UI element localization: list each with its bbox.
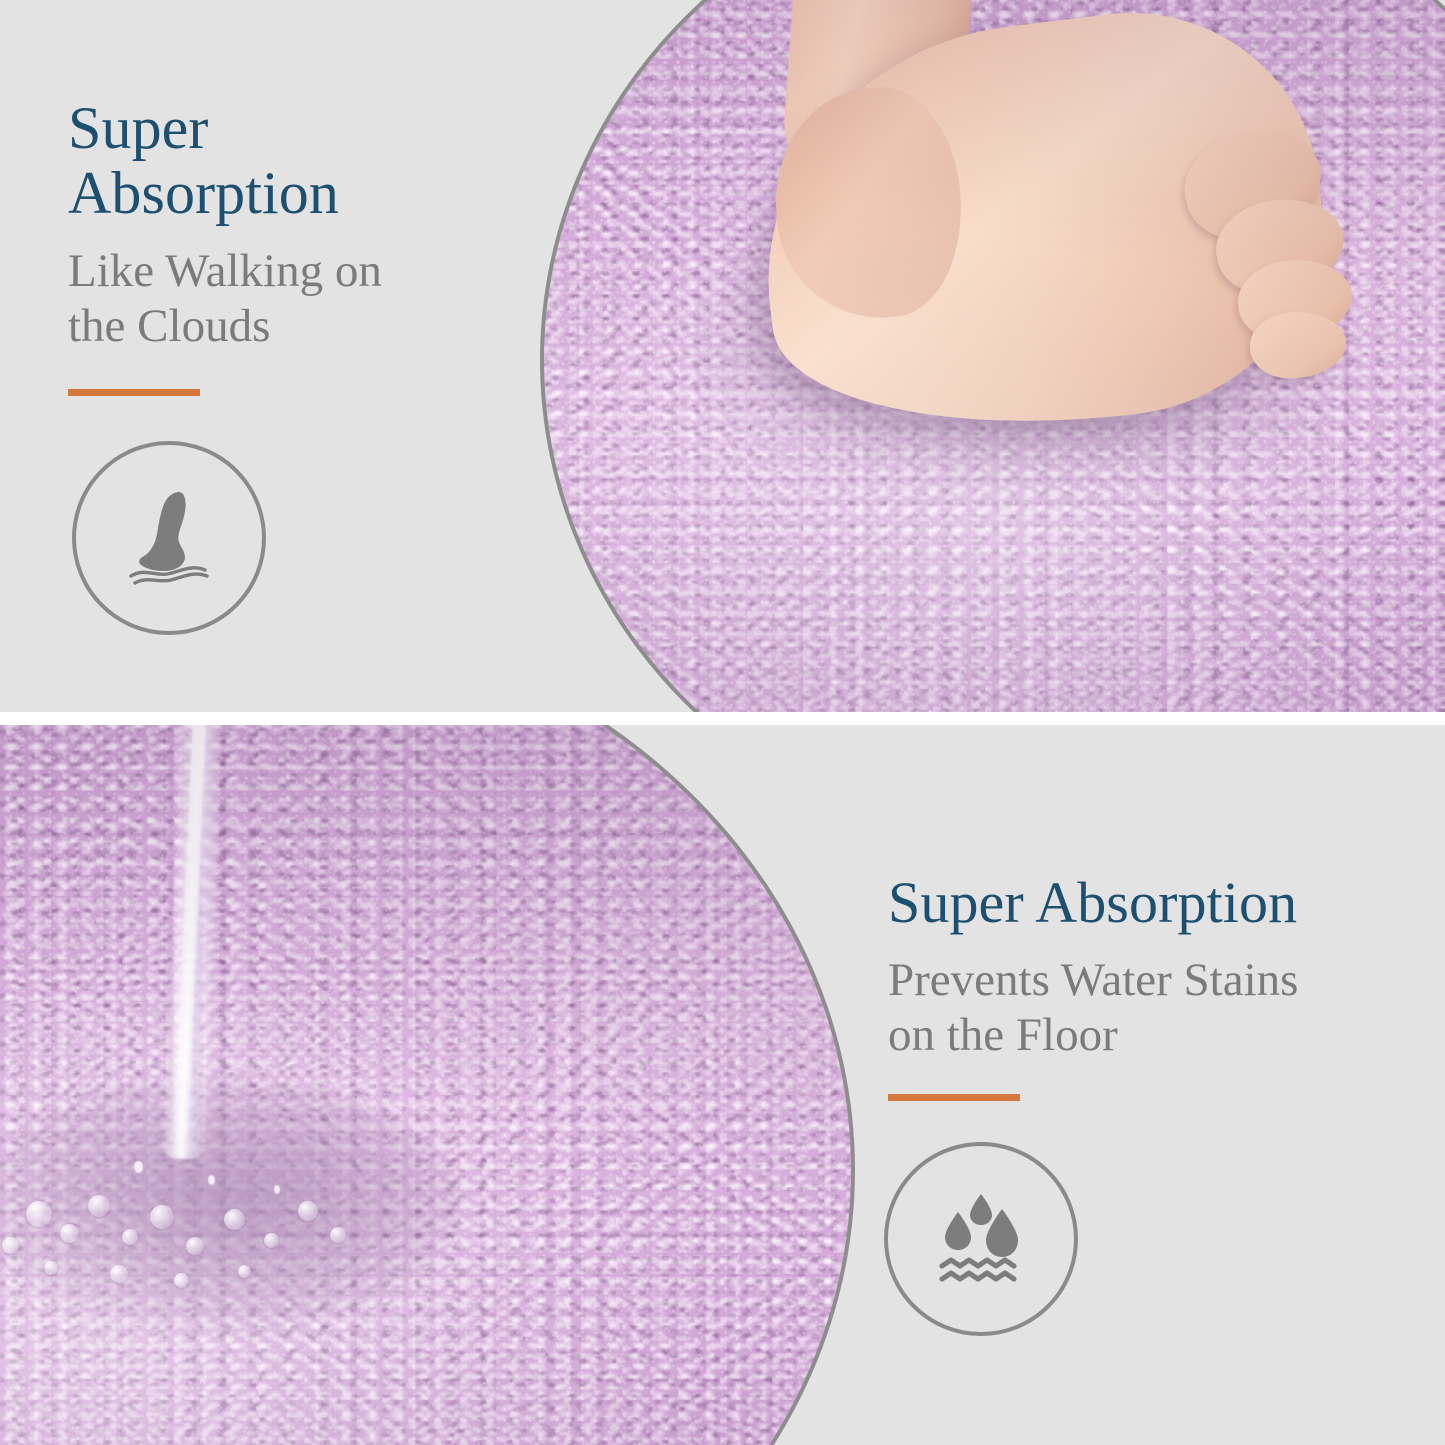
bottom-subline: Prevents Water Stains on the Floor [888, 953, 1408, 1064]
bottom-panel: Super Absorption Prevents Water Stains o… [0, 725, 1445, 1445]
water-bubble [2, 1237, 19, 1254]
top-headline: Super Absorption [68, 96, 488, 226]
water-bubble [298, 1201, 318, 1221]
water-bubble [110, 1265, 128, 1283]
bottom-text-block: Super Absorption Prevents Water Stains o… [888, 872, 1408, 1101]
bottom-headline: Super Absorption [888, 872, 1408, 935]
top-accent-bar [68, 389, 200, 396]
water-bubble [122, 1229, 138, 1245]
water-droplet [134, 1161, 143, 1173]
water-droplets-waves-icon [920, 1178, 1042, 1300]
water-bubble [224, 1209, 245, 1230]
water-bubble [44, 1261, 58, 1275]
water-droplet [274, 1185, 280, 1194]
water-bubble [186, 1237, 204, 1255]
top-text-block: Super Absorption Like Walking on the Clo… [68, 96, 488, 396]
bottom-subline-line-1: Prevents Water Stains [888, 953, 1408, 1008]
top-panel: Super Absorption Like Walking on the Clo… [0, 0, 1445, 712]
panel-divider [0, 712, 1445, 725]
foot-on-rug-photo [540, 0, 1445, 712]
water-bubble [174, 1273, 189, 1288]
rug-texture [0, 725, 851, 1445]
water-on-rug-photo [0, 725, 855, 1445]
bottom-subline-line-2: on the Floor [888, 1008, 1408, 1063]
water-droplets-icon-badge [884, 1142, 1078, 1336]
bottom-accent-bar [888, 1094, 1020, 1101]
top-headline-line-1: Super [68, 96, 488, 161]
foot-comfort-icon [109, 478, 229, 598]
product-feature-image: Super Absorption Like Walking on the Clo… [0, 0, 1445, 1445]
water-droplet [208, 1175, 215, 1185]
water-bubble [330, 1227, 346, 1243]
top-subline-line-1: Like Walking on [68, 244, 488, 299]
water-bubble [264, 1233, 279, 1248]
foot-comfort-icon-badge [72, 441, 266, 635]
bottom-headline-line-1: Super Absorption [888, 872, 1408, 935]
rug-fiber-layer [0, 725, 851, 1445]
water-bubble [238, 1265, 251, 1278]
top-headline-line-2: Absorption [68, 161, 488, 226]
water-bubble [26, 1201, 52, 1227]
top-subline: Like Walking on the Clouds [68, 244, 488, 355]
water-bubble [60, 1224, 79, 1243]
water-bubble [88, 1195, 110, 1217]
water-bubble [150, 1205, 174, 1229]
top-subline-line-2: the Clouds [68, 299, 488, 354]
